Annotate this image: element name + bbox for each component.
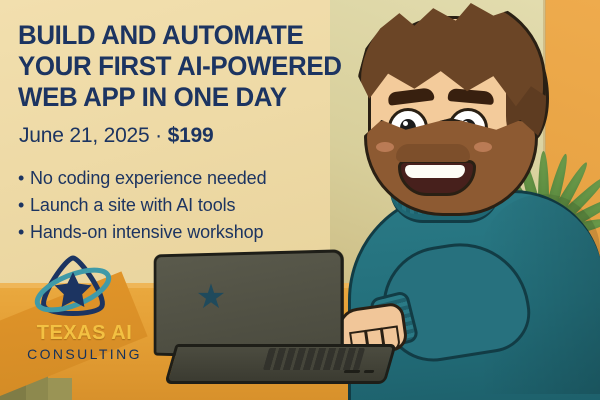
brand-name: TEXAS AI CONSULTING xyxy=(22,322,147,363)
laptop: ★ xyxy=(148,252,398,382)
list-item: •Hands-on intensive workshop xyxy=(18,219,338,246)
feature-list: •No coding experience needed •Launch a s… xyxy=(18,165,338,246)
list-item-label: Launch a site with AI tools xyxy=(30,195,235,215)
event-promo-poster: ★ BUILD AND AUTOMATE YOUR FIRST AI-POWER… xyxy=(0,0,600,400)
headline-line-3: WEB APP IN ONE DAY xyxy=(18,82,335,113)
bullet-icon: • xyxy=(18,192,30,219)
floor-panel xyxy=(48,378,72,400)
brand-logo: TEXAS AI CONSULTING xyxy=(22,252,147,370)
list-item: •No coding experience needed xyxy=(18,165,338,192)
laptop-port xyxy=(364,370,375,373)
texas-ai-orbit-star-logo-icon xyxy=(30,252,116,324)
page-title: BUILD AND AUTOMATE YOUR FIRST AI-POWERED… xyxy=(18,20,335,113)
teeth xyxy=(405,165,465,178)
laptop-port xyxy=(344,370,361,373)
list-item-label: No coding experience needed xyxy=(30,168,266,188)
event-price: $199 xyxy=(168,124,214,147)
mustache xyxy=(396,144,470,162)
list-item-label: Hands-on intensive workshop xyxy=(30,222,263,242)
brand-name-primary: TEXAS AI xyxy=(22,322,147,345)
bullet-icon: • xyxy=(18,219,30,246)
bullet-icon: • xyxy=(18,165,30,192)
cheek-blush xyxy=(376,142,394,152)
headline-line-2: YOUR FIRST AI-POWERED xyxy=(18,51,335,82)
list-item: •Launch a site with AI tools xyxy=(18,192,338,219)
brand-name-secondary: CONSULTING xyxy=(22,345,147,363)
headline-line-1: BUILD AND AUTOMATE xyxy=(18,20,335,51)
event-date: June 21, 2025 · xyxy=(19,124,168,147)
laptop-keyboard xyxy=(263,348,365,370)
cheek-blush xyxy=(474,142,492,152)
star-icon: ★ xyxy=(194,280,228,314)
event-date-price: June 21, 2025 · $199 xyxy=(19,124,214,148)
